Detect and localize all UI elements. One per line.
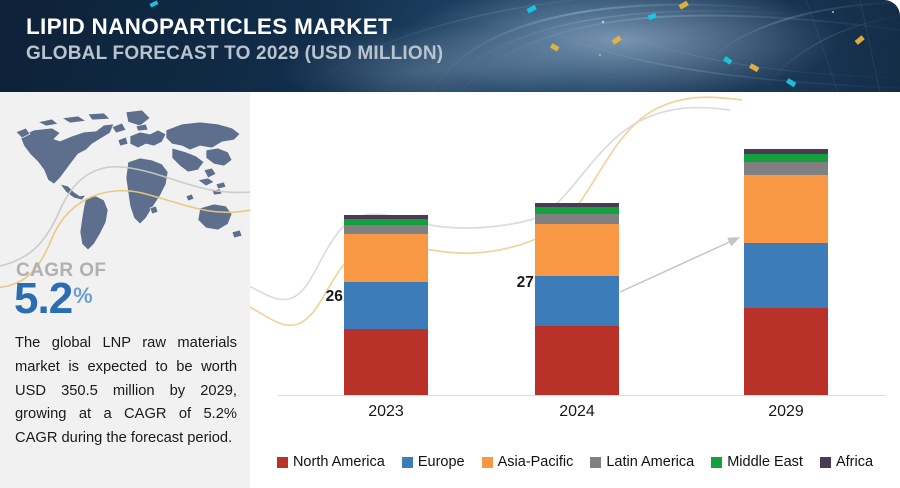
bar-segment-middle-east (535, 207, 619, 214)
bar-segment-europe (535, 276, 619, 326)
legend-swatch-icon (590, 457, 601, 468)
x-axis-line (278, 395, 886, 396)
legend-label: Asia-Pacific (498, 454, 574, 470)
legend-swatch-icon (711, 457, 722, 468)
x-axis-label-2023: 2023 (344, 403, 428, 421)
legend-item-latin-america[interactable]: Latin America (590, 454, 694, 470)
bar-segment-latin-america (744, 162, 828, 175)
sidebar-summary-panel: CAGR OF 5.2% The global LNP raw material… (0, 92, 250, 488)
infographic-page: LIPID NANOPARTICLES MARKET GLOBAL FORECA… (0, 0, 900, 488)
legend-label: Latin America (606, 454, 694, 470)
page-subtitle: GLOBAL FORECAST TO 2029 (USD MILLION) (26, 43, 443, 65)
legend-item-africa[interactable]: Africa (820, 454, 873, 470)
chart-legend: North America Europe Asia-Pacific Latin … (250, 444, 900, 480)
bar-column-2024 (535, 203, 619, 395)
legend-label: Middle East (727, 454, 803, 470)
legend-label: Africa (836, 454, 873, 470)
bar-segment-north-america (744, 308, 828, 395)
legend-swatch-icon (482, 457, 493, 468)
legend-swatch-icon (820, 457, 831, 468)
cagr-number: 5.2 (14, 274, 72, 323)
bar-column-2029 (744, 149, 828, 395)
bar-segment-latin-america (344, 225, 428, 234)
header-banner: LIPID NANOPARTICLES MARKET GLOBAL FORECA… (0, 0, 900, 92)
legend-label: Europe (418, 454, 465, 470)
cagr-percent-sign: % (73, 283, 92, 308)
legend-item-north-america[interactable]: North America (277, 454, 385, 470)
cagr-value: 5.2% (14, 277, 91, 321)
bar-segment-middle-east (744, 154, 828, 162)
legend-item-asia-pacific[interactable]: Asia-Pacific (482, 454, 574, 470)
legend-item-middle-east[interactable]: Middle East (711, 454, 803, 470)
legend-swatch-icon (402, 457, 413, 468)
plot-area: 261.8 2023 271.8 2024 35 (250, 92, 900, 488)
bar-segment-asia-pacific (535, 224, 619, 276)
bar-segment-north-america (344, 329, 428, 395)
bar-segment-asia-pacific (744, 175, 828, 243)
page-title: LIPID NANOPARTICLES MARKET (26, 14, 443, 41)
bar-segment-asia-pacific (344, 234, 428, 282)
bar-column-2023 (344, 215, 428, 395)
header-text-block: LIPID NANOPARTICLES MARKET GLOBAL FORECA… (26, 14, 443, 65)
chart-panel: 261.8 2023 271.8 2024 35 (250, 92, 900, 488)
x-axis-label-2024: 2024 (535, 403, 619, 421)
bar-segment-europe (744, 243, 828, 308)
legend-swatch-icon (277, 457, 288, 468)
bar-segment-north-america (535, 326, 619, 395)
summary-description: The global LNP raw materials market is e… (15, 332, 237, 451)
legend-label: North America (293, 454, 385, 470)
x-axis-label-2029: 2029 (744, 403, 828, 421)
bar-segment-europe (344, 282, 428, 329)
legend-item-europe[interactable]: Europe (402, 454, 465, 470)
bar-segment-latin-america (535, 214, 619, 224)
